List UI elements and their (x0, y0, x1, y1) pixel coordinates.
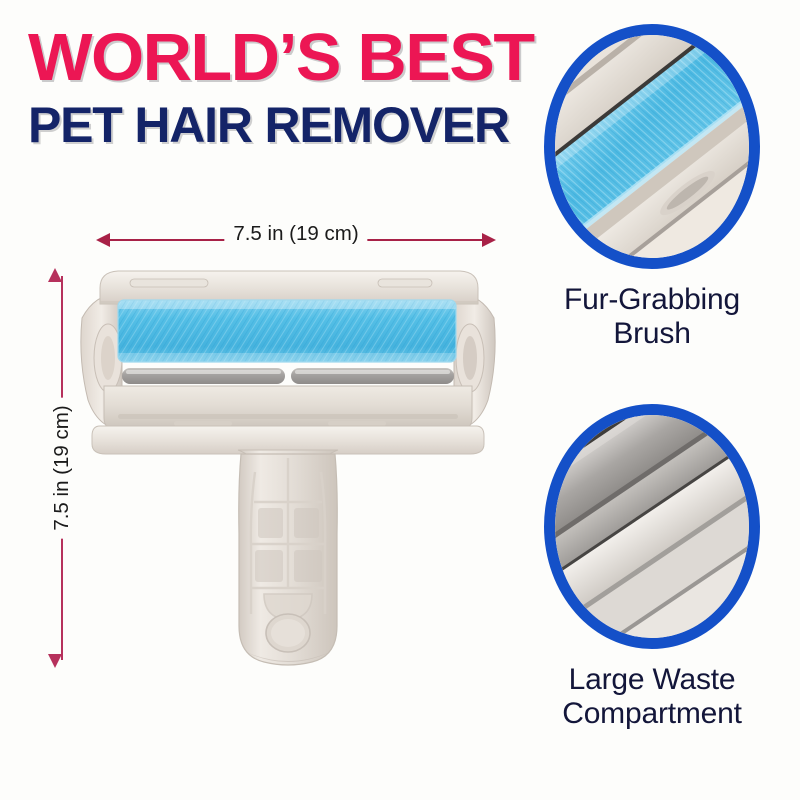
height-dimension: 7.5 in (19 cm) (44, 268, 80, 668)
feature-caption-bottom-line2: Compartment (524, 697, 780, 731)
feature-caption-top-line2: Brush (524, 317, 780, 351)
infographic-page: WORLD’S BEST PET HAIR REMOVER 7.5 in (19… (0, 0, 800, 800)
width-dimension: 7.5 in (19 cm) (96, 222, 496, 256)
product-image (78, 258, 498, 673)
arrow-down-icon (48, 654, 62, 668)
headline-secondary: PET HAIR REMOVER (28, 100, 498, 150)
feature-circle-top (544, 24, 760, 269)
feature-large-waste-compartment: Large Waste Compartment (524, 404, 780, 730)
arrow-left-icon (96, 233, 110, 247)
feature-caption-top-line1: Fur-Grabbing (524, 283, 780, 317)
feature-caption-bottom: Large Waste Compartment (524, 663, 780, 730)
feature-inset-brush-closeup (555, 35, 749, 258)
feature-ring-top (544, 24, 760, 269)
feature-ring-bottom (544, 404, 760, 649)
height-dimension-label: 7.5 in (19 cm) (47, 397, 77, 538)
feature-circle-bottom (544, 404, 760, 649)
width-dimension-label: 7.5 in (19 cm) (224, 222, 367, 246)
feature-caption-bottom-line1: Large Waste (524, 663, 780, 697)
headline-primary: WORLD’S BEST (28, 26, 507, 90)
arrow-up-icon (48, 268, 62, 282)
feature-inset-compartment-closeup (555, 415, 749, 638)
headline-block: WORLD’S BEST PET HAIR REMOVER (28, 26, 498, 150)
arrow-right-icon (482, 233, 496, 247)
feature-fur-grabbing-brush: Fur-Grabbing Brush (524, 24, 780, 350)
feature-caption-top: Fur-Grabbing Brush (524, 283, 780, 350)
